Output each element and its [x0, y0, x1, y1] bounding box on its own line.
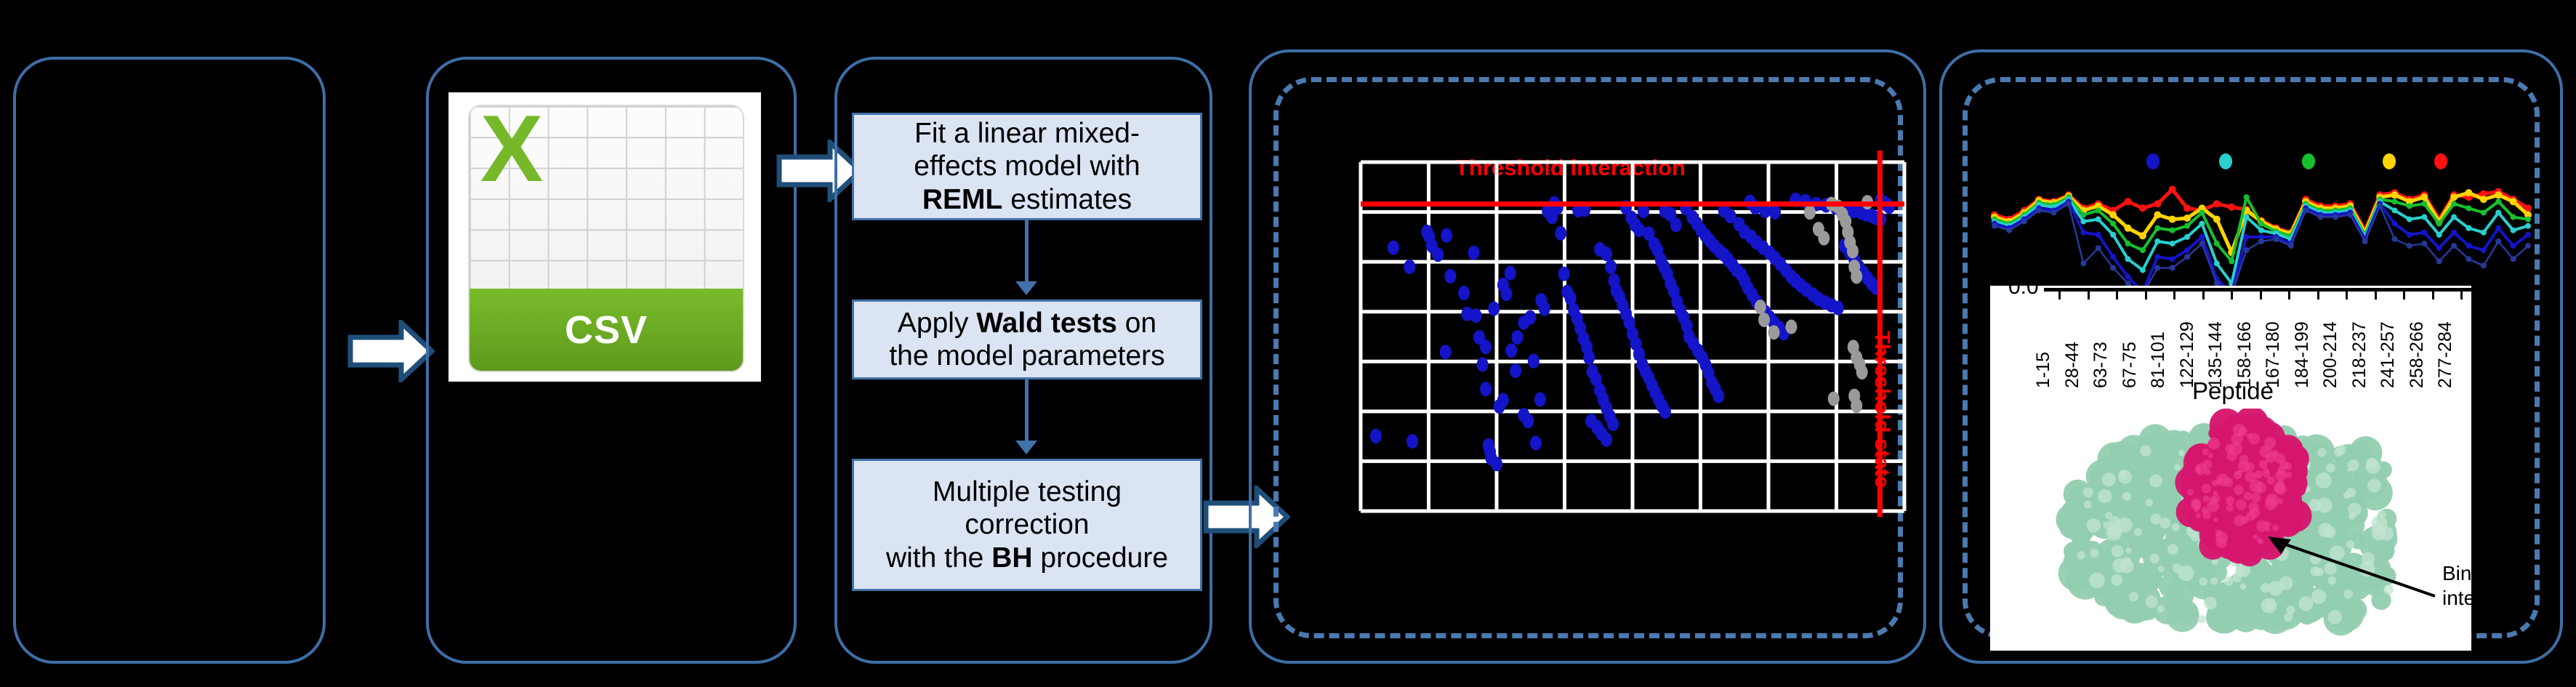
- peptide-tick-241-257: 241-257: [2378, 321, 2399, 388]
- peptide-tick-63-73: 63-73: [2090, 342, 2112, 388]
- connector-1-arrowhead: [1015, 281, 1037, 295]
- step-bh-correction[interactable]: Multiple testingcorrectionwith the BH pr…: [852, 459, 1202, 591]
- peptide-tick-67-75: 67-75: [2120, 342, 2141, 388]
- peptide-tick-mark: [2460, 292, 2463, 300]
- peptide-tick-mark: [2432, 292, 2434, 300]
- peptide-tick-258-266: 258-266: [2407, 321, 2428, 388]
- peptide-tick-mark: [2260, 292, 2262, 300]
- step-wald-tests-label: Apply Wald tests onthe model parameters: [885, 307, 1169, 372]
- step-bh-correction-label: Multiple testingcorrectionwith the BH pr…: [882, 475, 1172, 574]
- peptide-tick-mark: [2088, 292, 2090, 300]
- peptide-tick-mark: [2231, 292, 2233, 300]
- csv-file-icon[interactable]: X CSV: [449, 93, 760, 381]
- peptide-tick-277-284: 277-284: [2435, 321, 2456, 388]
- peptide-tick-mark: [2202, 292, 2205, 300]
- peptide-tick-218-237: 218-237: [2349, 321, 2370, 388]
- peptide-tick-mark: [2288, 292, 2290, 300]
- connector-1: [1025, 220, 1029, 281]
- peptide-tick-mark: [2145, 292, 2147, 300]
- connector-2-arrowhead: [1015, 441, 1037, 454]
- binding-interface-annotation: Binding interfac: [2442, 561, 2510, 610]
- peptide-tick-81-101: 81-101: [2148, 332, 2169, 388]
- threshold-state-label: Threshold state: [1869, 331, 1893, 488]
- step-wald-tests[interactable]: Apply Wald tests onthe model parameters: [852, 300, 1202, 379]
- line-canvas: [1989, 145, 2534, 298]
- arrow-into-csv: [347, 320, 435, 382]
- peptide-tick-mark: [2058, 292, 2061, 300]
- step-fit-model[interactable]: Fit a linear mixed-effects model withREM…: [852, 113, 1202, 220]
- peptide-tick-28-44: 28-44: [2062, 342, 2083, 388]
- binding-interface-line2: interfac: [2442, 586, 2510, 611]
- protein-surface-structure: [2028, 409, 2464, 648]
- step-fit-model-label: Fit a linear mixed-effects model withREM…: [909, 117, 1144, 216]
- csv-icon-body: X CSV: [468, 105, 745, 372]
- y-axis-tick-label: 0.0: [2008, 275, 2039, 300]
- input-data-panel: [13, 57, 326, 664]
- excel-x-icon: X: [480, 105, 544, 196]
- peptide-tick-mark: [2403, 292, 2405, 300]
- peptide-tick-mark: [2116, 292, 2118, 300]
- peptide-tick-mark: [2317, 292, 2319, 300]
- peptide-axis-title: Peptide: [2192, 377, 2274, 405]
- peptide-tick-200-214: 200-214: [2320, 321, 2341, 388]
- scatter-canvas: [1352, 142, 1912, 520]
- csv-label: CSV: [565, 308, 648, 353]
- binding-interface-line1: Binding: [2442, 561, 2510, 586]
- peptide-tick-mark: [2173, 292, 2175, 300]
- peptide-uptake-plot[interactable]: [1989, 145, 2534, 298]
- peptide-x-axis: [2044, 288, 2471, 292]
- volcano-threshold-plot[interactable]: Threshold interaction Threshold state: [1352, 142, 1912, 520]
- peptide-tick-1-15: 1-15: [2033, 352, 2054, 388]
- peptide-tick-184-199: 184-199: [2292, 321, 2313, 388]
- peptide-tick-mark: [2346, 292, 2348, 300]
- csv-band: CSV: [470, 289, 744, 371]
- connector-2: [1025, 379, 1029, 441]
- peptide-tick-mark: [2375, 292, 2377, 300]
